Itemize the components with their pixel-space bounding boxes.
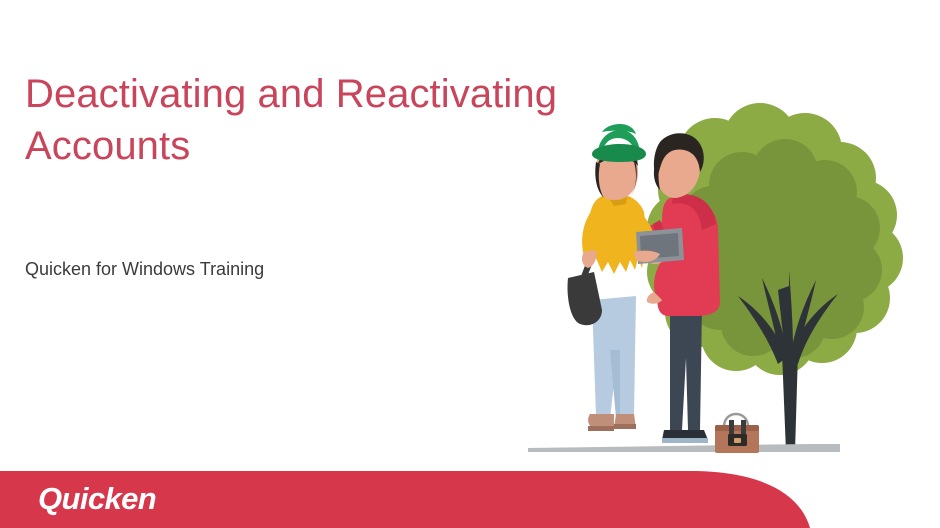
- title-block: Deactivating and Reactivating Accounts: [25, 68, 585, 172]
- page-title: Deactivating and Reactivating Accounts: [25, 68, 585, 172]
- quicken-logo: Quicken: [38, 480, 156, 518]
- slide-subtitle: Quicken for Windows Training: [25, 257, 264, 281]
- ground-shadow: [528, 444, 840, 452]
- tablet-device: [634, 228, 684, 264]
- presentation-slide: Deactivating and Reactivating Accounts Q…: [0, 0, 940, 528]
- illustration-graphic: [510, 100, 910, 465]
- tree-trunk: [782, 352, 798, 452]
- briefcase-icon: [715, 414, 759, 453]
